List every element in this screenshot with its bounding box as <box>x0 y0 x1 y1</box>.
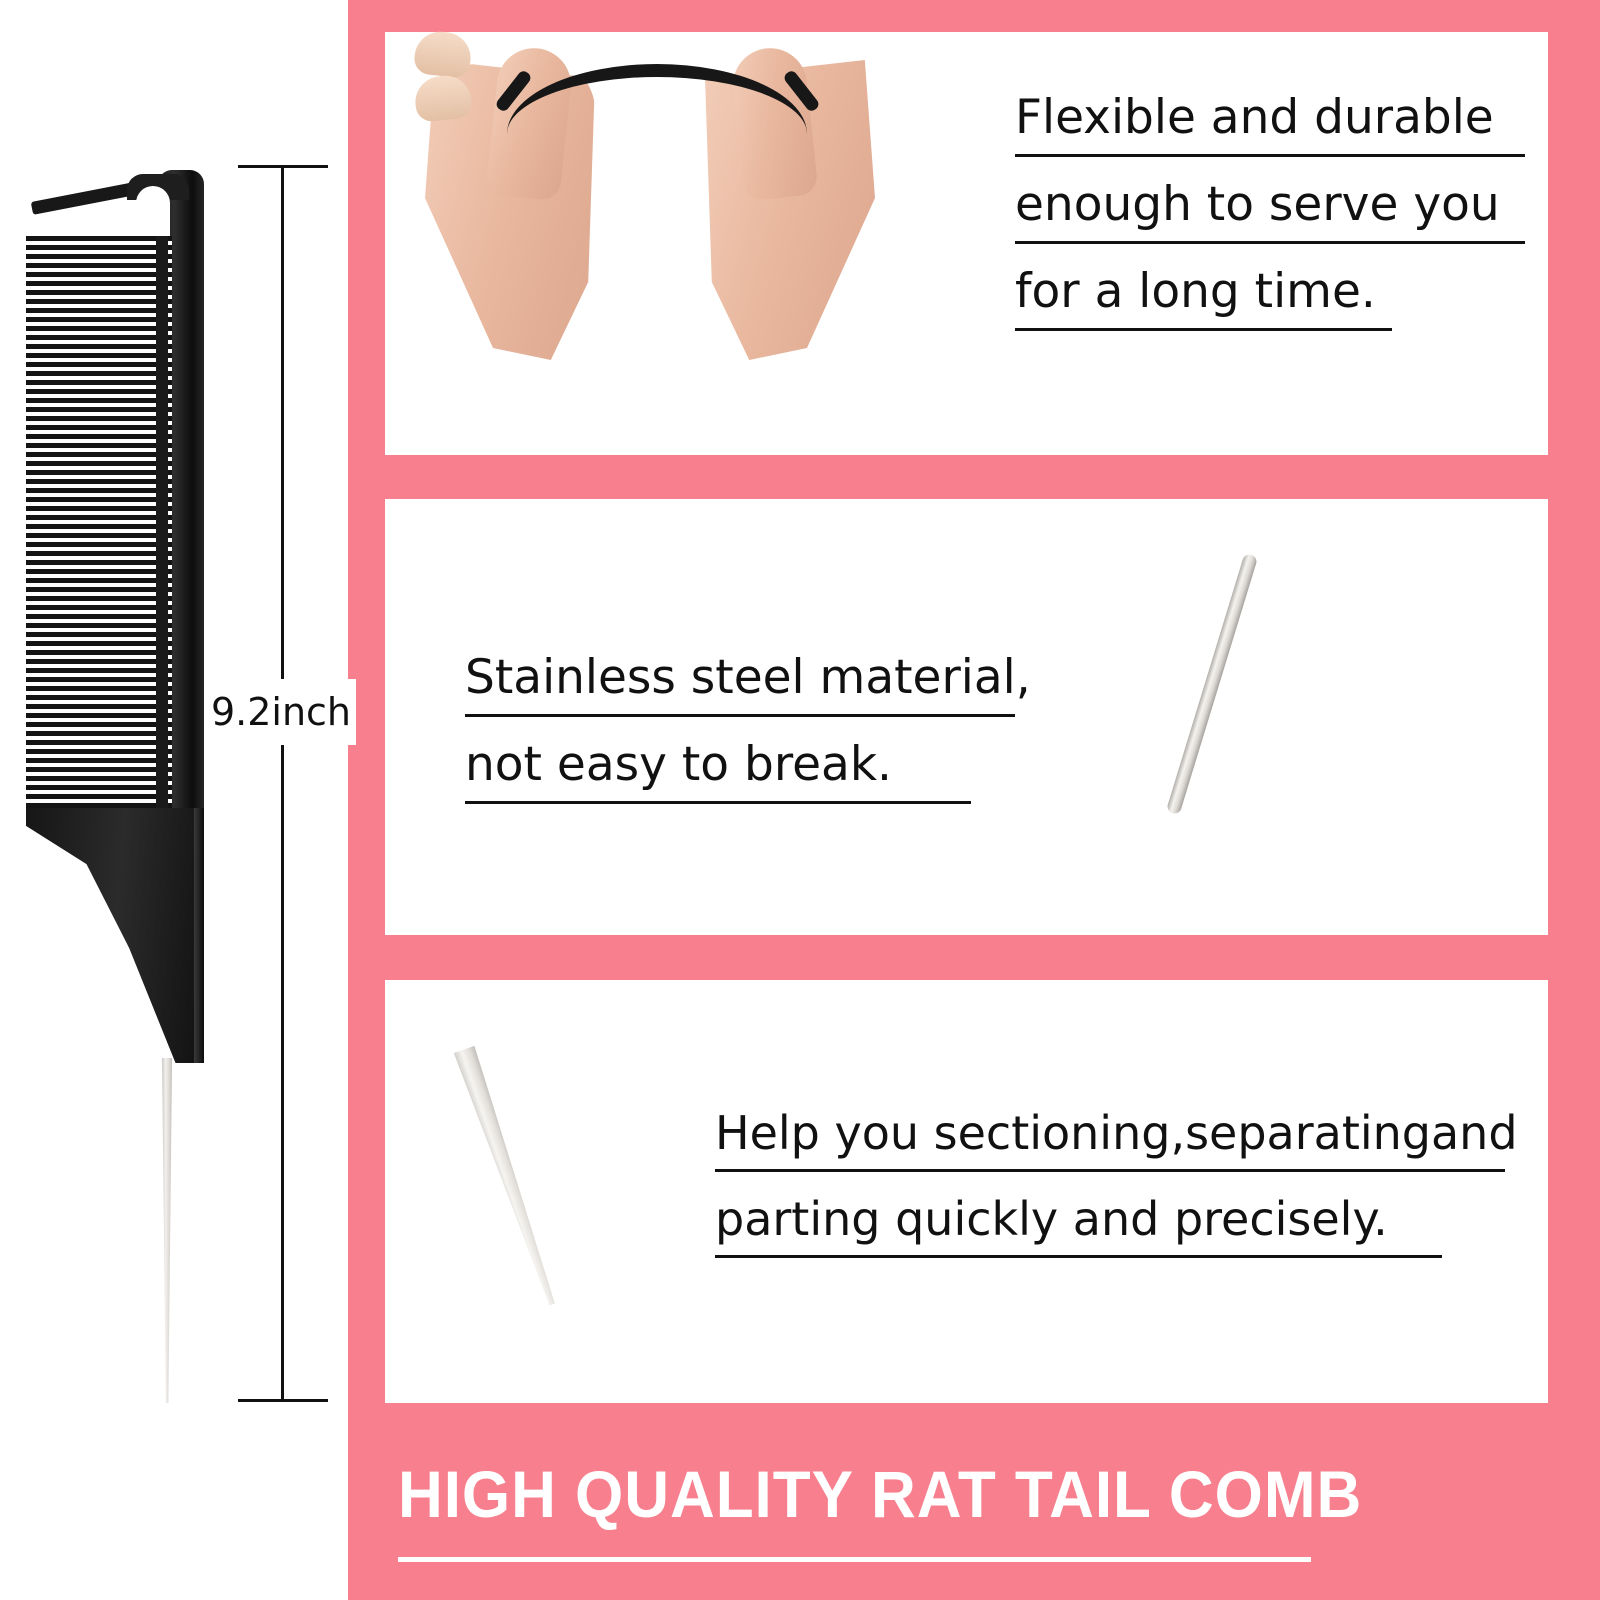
rat-tail-comb-icon <box>8 160 228 1410</box>
feature-card-stainless: Stainless steel material, not easy to br… <box>385 499 1548 935</box>
feature-card-flexible: Flexible and durable enough to serve you… <box>385 32 1548 455</box>
feature-text-sectioning: Help you sectioning,separatingand partin… <box>715 1110 1505 1282</box>
feature-text-line: Flexible and durable <box>1015 94 1525 157</box>
comb-handle-body <box>26 808 204 1063</box>
feature-text-line: parting quickly and precisely. <box>715 1196 1505 1258</box>
feature-card-sectioning: Help you sectioning,separatingand partin… <box>385 980 1548 1403</box>
dimension-line <box>281 165 284 1401</box>
feature-text-line: enough to serve you <box>1015 181 1525 244</box>
feature-text-line: Help you sectioning,separatingand <box>715 1110 1505 1172</box>
left-thumbnail <box>413 29 473 79</box>
hands-bending-comb-photo <box>415 32 885 392</box>
tapered-pin-tail-photo <box>452 1045 564 1309</box>
stainless-steel-rod-photo <box>1166 553 1258 815</box>
comb-handle-highlight <box>194 808 204 1063</box>
footer-underline <box>398 1557 1311 1562</box>
dimension-label: 9.2inch <box>206 679 356 745</box>
comb-metal-tail <box>160 1058 174 1403</box>
infographic-page: 9.2inch Flexible and durable enough to s… <box>0 0 1600 1600</box>
feature-text-line: Stainless steel material, <box>465 654 1015 717</box>
comb-teeth <box>26 236 172 810</box>
footer-title: HIGH QUALITY RAT TAIL COMB <box>398 1458 1479 1531</box>
feature-text-stainless: Stainless steel material, not easy to br… <box>465 654 1015 828</box>
comb-teeth-edge <box>156 236 168 810</box>
product-illustration-pane: 9.2inch <box>0 0 348 1600</box>
comb-handle-taper <box>26 808 204 1063</box>
feature-text-line: for a long time. <box>1015 268 1525 331</box>
feature-text-line: not easy to break. <box>465 741 1015 804</box>
footer-banner: HIGH QUALITY RAT TAIL COMB <box>398 1458 1548 1562</box>
feature-text-flexible: Flexible and durable enough to serve you… <box>1015 94 1525 355</box>
